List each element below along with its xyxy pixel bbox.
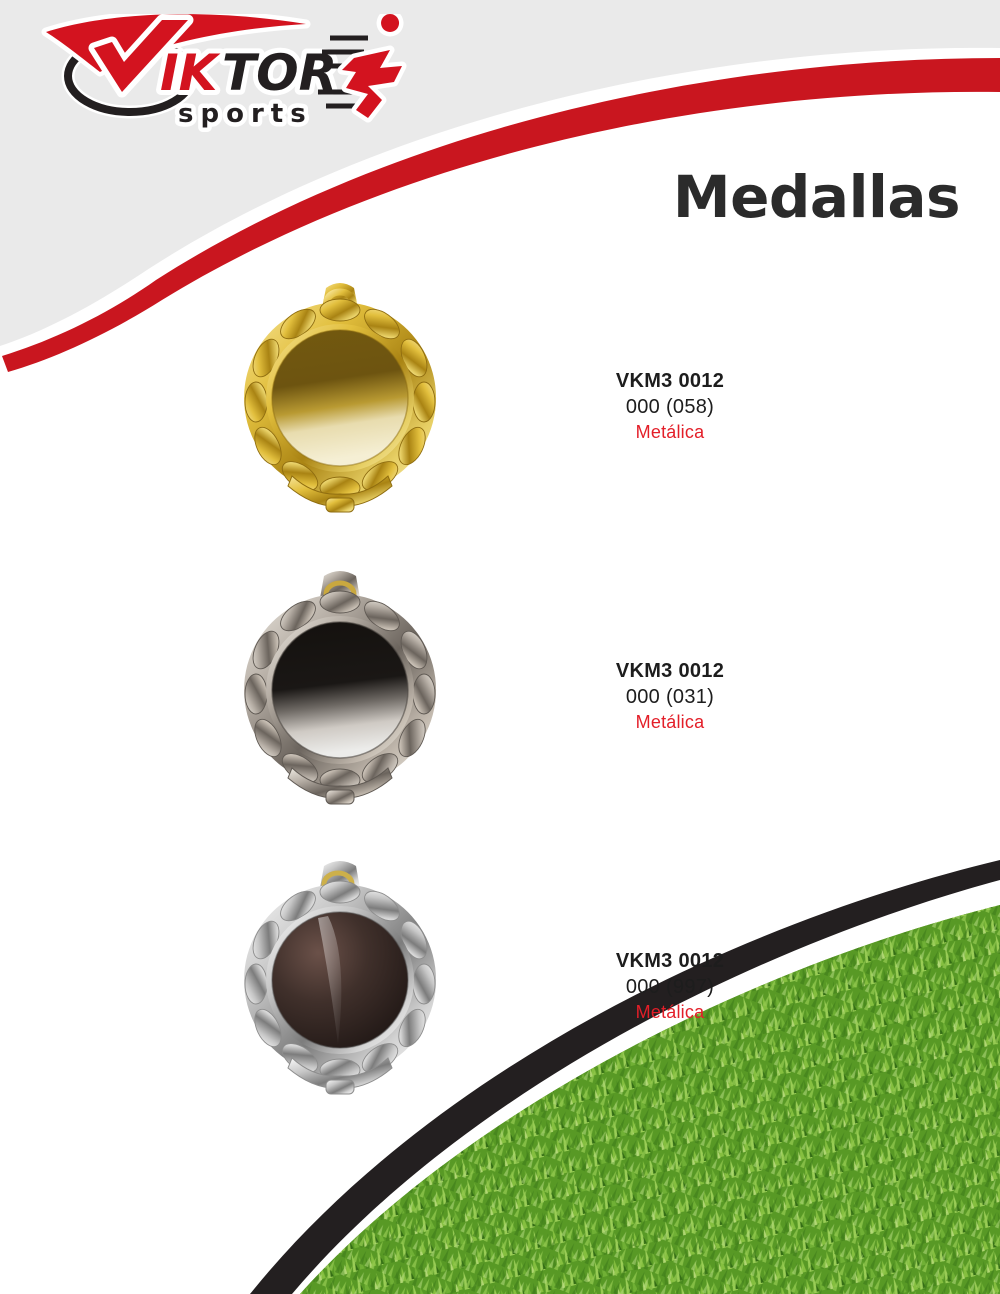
product-info: VKM3 0012 000 (031) Metálica [540,658,800,735]
product-row: VKM3 0012 000 (031) Metálica [0,570,1000,820]
product-code: VKM3 0012 [540,658,800,684]
product-material: Metálica [540,711,800,735]
product-image-antique-silver[interactable] [230,570,450,810]
gold-medal-icon [230,280,450,520]
brand-logo-mark: IK IK TOR TOR sports sports [38,14,418,132]
antique-silver-medal-icon [230,570,450,810]
catalog-page: IK IK TOR TOR sports sports Medallas [0,0,1000,1294]
product-code: VKM3 0012 [540,368,800,394]
product-info: VKM3 0012 000 (058) Metálica [540,368,800,445]
product-material: Metálica [540,421,800,445]
product-image-gold[interactable] [230,280,450,520]
svg-text:IK: IK [160,44,221,102]
product-variant: 000 (031) [540,684,800,710]
product-row: VKM3 0012 000 (058) Metálica [0,280,1000,530]
chrome-medal-icon [230,860,450,1100]
brand-logo: IK IK TOR TOR sports sports [38,14,418,132]
product-variant: 000 (058) [540,394,800,420]
product-code: VKM3 0012 [540,948,800,974]
product-material: Metálica [540,1001,800,1025]
page-title: Medallas [560,168,960,226]
product-image-chrome[interactable] [230,860,450,1100]
product-variant: 000 (997) [540,974,800,1000]
product-row: VKM3 0012 000 (997) Metálica [0,860,1000,1110]
product-info: VKM3 0012 000 (997) Metálica [540,948,800,1025]
svg-text:sports: sports [178,99,313,129]
